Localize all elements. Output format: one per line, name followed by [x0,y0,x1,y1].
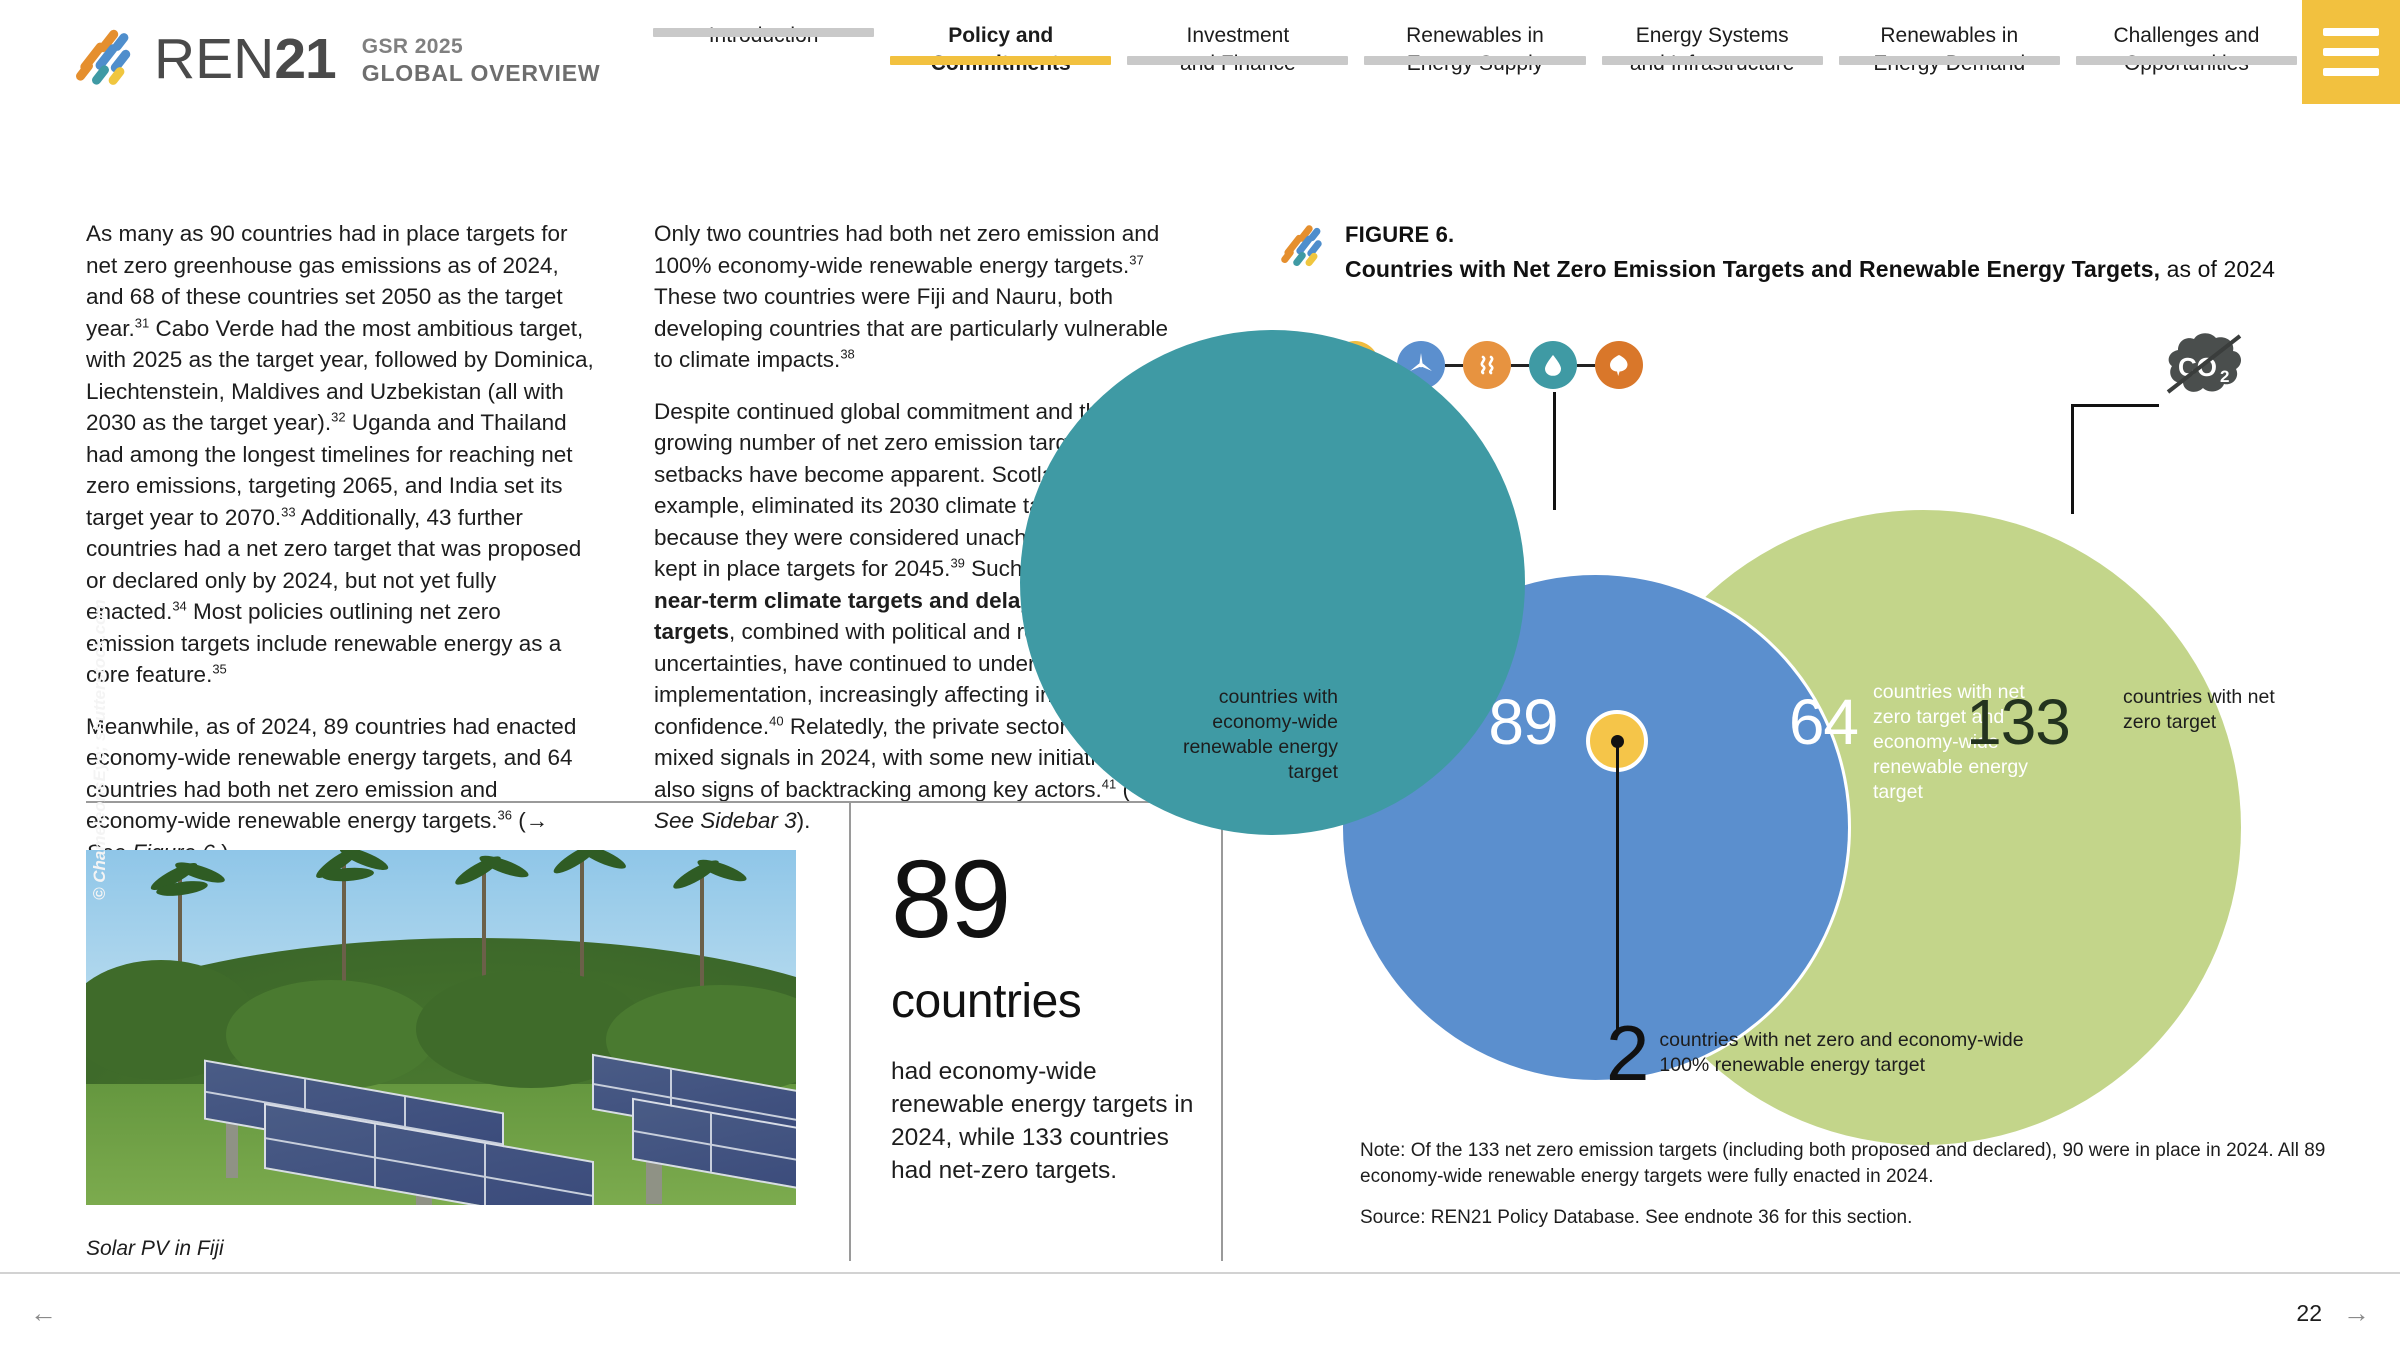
brand-subtitle-line1: GSR 2025 [362,34,601,60]
brand-logo[interactable]: REN21 GSR 2025 GLOBAL OVERVIEW [78,28,600,90]
figure-title-rest: as of 2024 [2160,256,2275,282]
geothermal-icon [1463,341,1511,389]
figure-source: Source: REN21 Policy Database. See endno… [1360,1205,2340,1231]
venn-value-both-100pct: 2 [1606,1020,1647,1086]
nav-tab-underline [1602,56,1823,65]
article-column-1: As many as 90 countries had in place tar… [86,218,594,888]
figure-label: FIGURE 6. [1345,222,2275,248]
page-number: 22 [2296,1300,2322,1327]
leader-line-2-countries [1616,740,1619,1030]
no-co2-cloud-icon: CO 2 [2156,330,2251,408]
main-navigation: IntroductionPolicy and CommitmentsInvest… [645,0,2305,104]
ren21-logo-icon [78,28,140,90]
stat-number: 89 [891,845,1211,955]
brand-subtitle: GSR 2025 GLOBAL OVERVIEW [362,31,601,88]
hydro-water-drop-icon [1529,341,1577,389]
venn-value-netzero: 133 [1923,685,2113,759]
app-header: REN21 GSR 2025 GLOBAL OVERVIEW Introduct… [0,0,2400,104]
article-paragraph: Meanwhile, as of 2024, 89 countries had … [86,711,594,869]
figure-notes: Note: Of the 133 net zero emission targe… [1360,1138,2340,1231]
stat-description: had economy-wide renewable energy target… [891,1055,1211,1187]
nav-tab-underline [653,28,874,37]
nav-tab-underline [1839,56,2060,65]
icon-connector [1577,364,1595,367]
arrow-right-icon[interactable]: → [2343,1298,2370,1329]
ren21-figure-logo-icon [1283,224,1329,270]
nav-tab-label: Renewables in Energy Supply [1356,22,1593,78]
leader-line-co2-vertical [2071,404,2074,514]
stat-callout: 89 countries had economy-wide renewable … [891,845,1211,1187]
nav-tab-label: Energy Systems and Infrastructure [1594,22,1831,78]
nav-tab-underline [1364,56,1585,65]
brand-wordmark: REN21 [154,31,336,88]
nav-tab-energy-systems-and-infrastructure[interactable]: Energy Systems and Infrastructure [1594,0,1831,78]
nav-tab-label: Investment and Finance [1119,22,1356,78]
nav-tab-introduction[interactable]: Introduction [645,0,882,50]
icon-connector [1445,364,1463,367]
hamburger-menu-icon[interactable] [2302,0,2400,104]
nav-tab-renewables-in-energy-demand[interactable]: Renewables in Energy Demand [1831,0,2068,78]
nav-tab-label: Challenges and Opportunities [2068,22,2305,78]
nav-tab-underline [890,56,1111,65]
venn-label-netzero: countries with net zero target [2123,685,2283,735]
icon-connector [1511,364,1529,367]
venn-diagram: CO 2 89 countries with economy-wide rene… [1283,330,2353,1100]
vertical-divider-left [849,801,851,1261]
figure-note: Note: Of the 133 net zero emission targe… [1360,1138,2340,1189]
nav-tab-renewables-in-energy-supply[interactable]: Renewables in Energy Supply [1356,0,1593,78]
leader-line-co2-horizontal [2071,404,2159,407]
nav-tab-challenges-and-opportunities[interactable]: Challenges and Opportunities [2068,0,2305,78]
figure-title: Countries with Net Zero Emission Targets… [1345,256,2275,283]
brand-subtitle-line2: GLOBAL OVERVIEW [362,59,601,87]
nav-tab-policy-and-commitments[interactable]: Policy and Commitments [882,0,1119,78]
leader-line-renewables [1553,392,1556,510]
photo-credit: © ChameleonsEye; shutterstock.com [90,599,110,900]
svg-text:2: 2 [2220,367,2229,386]
nav-tab-label: Renewables in Energy Demand [1831,22,2068,78]
arrow-left-icon[interactable]: ← [30,1298,57,1329]
photo-solar-pv-fiji [86,850,796,1205]
venn-value-both: 64 [1698,685,1858,759]
nav-tab-underline [2076,56,2297,65]
page-root: REN21 GSR 2025 GLOBAL OVERVIEW Introduct… [0,0,2400,1350]
nav-tab-investment-and-finance[interactable]: Investment and Finance [1119,0,1356,78]
venn-label-both-100pct: countries with net zero and economy-wide… [1659,1020,2036,1086]
venn-label-renewable: countries with economy-wide renewable en… [1163,685,1338,785]
nav-tab-label: Policy and Commitments [882,22,1119,78]
page-footer: ← 22 → [0,1272,2400,1350]
nav-tab-underline [1127,56,1348,65]
vertical-divider-right [1221,801,1223,1261]
bioenergy-leaf-icon [1595,341,1643,389]
venn-callout-2: 2 countries with net zero and economy-wi… [1606,1020,2036,1086]
photo-caption: Solar PV in Fiji [86,1237,224,1261]
figure-title-bold: Countries with Net Zero Emission Targets… [1345,256,2160,282]
stat-unit: countries [891,977,1211,1027]
article-paragraph: Only two countries had both net zero emi… [654,218,1174,376]
figure-header: FIGURE 6. Countries with Net Zero Emissi… [1283,222,2343,283]
article-paragraph: As many as 90 countries had in place tar… [86,218,594,691]
horizontal-divider [86,801,1221,803]
